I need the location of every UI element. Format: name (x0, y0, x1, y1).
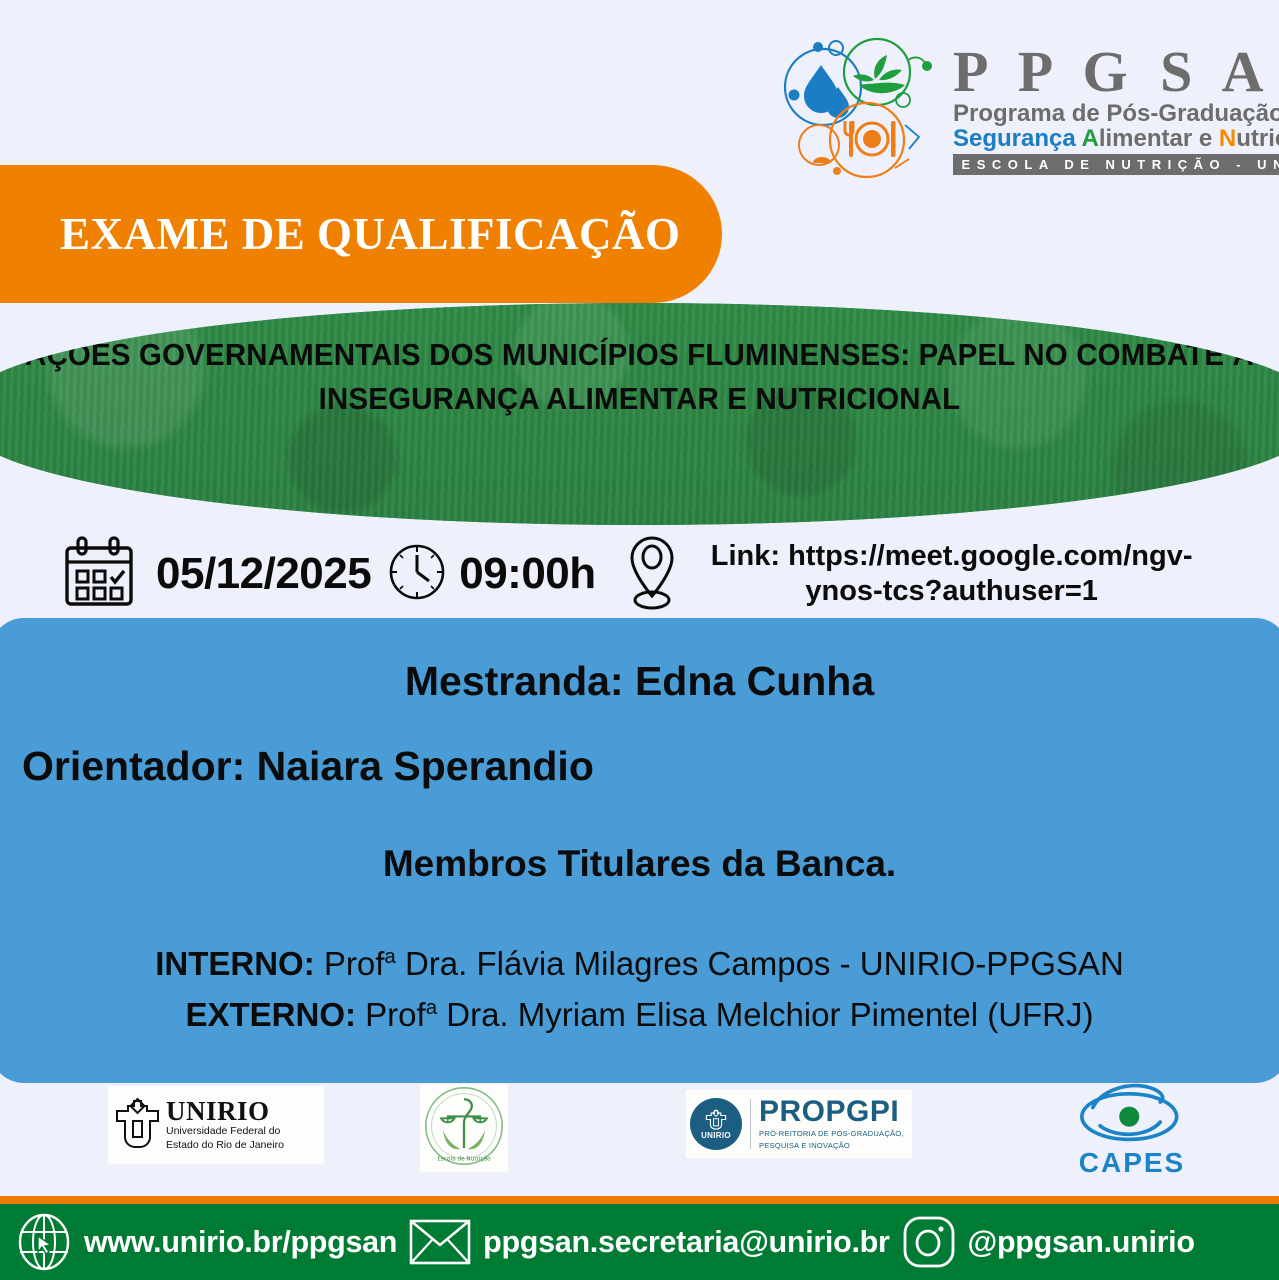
ppgsan-logo-text: P P G S A N Programa de Pós-Graduação em… (953, 40, 1279, 175)
svg-text:Escola de Nutrição: Escola de Nutrição (437, 1156, 491, 1162)
globe-cursor-icon (16, 1212, 72, 1272)
unirio-sub2: Estado do Rio de Janeiro (166, 1139, 284, 1152)
capes-swirl-icon (1070, 1082, 1194, 1149)
link-group[interactable]: Link: https://meet.google.com/ngv- ynos-… (620, 532, 1212, 617)
meeting-link-line1: Link: https://meet.google.com/ngv- (711, 540, 1193, 572)
people-block: Mestranda: Edna Cunha Orientador: Naiara… (0, 618, 1279, 1083)
thesis-title: AÇÕES GOVERNAMENTAIS DOS MUNICÍPIOS FLUM… (0, 333, 1279, 421)
ppgsan-logo: P P G S A N Programa de Pós-Graduação em… (775, 30, 1265, 185)
instagram-icon (902, 1215, 956, 1269)
unirio-circle-icon: UNIRIO (690, 1098, 742, 1150)
propgpi-name: PROPGPI (759, 1097, 904, 1127)
time-group: 09:00h (387, 542, 595, 607)
banca-externo: EXTERNO: Profa Dra. Myriam Elisa Melchio… (0, 989, 1279, 1040)
orientador-line: Orientador: Naiara Sperandio (22, 743, 594, 790)
meeting-link[interactable]: Link: https://meet.google.com/ngv- ynos-… (692, 539, 1212, 609)
banca-list: INTERNO: Profa Dra. Flávia Milagres Camp… (0, 938, 1279, 1040)
calendar-icon (62, 534, 136, 615)
event-info-row: 05/12/2025 09:00h (0, 528, 1279, 620)
unirio-logo-text: UNIRIO Universidade Federal do Estado do… (166, 1099, 284, 1152)
ppgsan-subtitle-line1: Programa de Pós-Graduação em (953, 101, 1279, 126)
map-pin-icon (620, 532, 684, 617)
capes-name: CAPES (1079, 1147, 1185, 1179)
propgpi-divider (750, 1099, 751, 1149)
ppgsan-acronym: P P G S A N (953, 44, 1279, 99)
footer-instagram[interactable]: @ppgsan.unirio (968, 1225, 1195, 1260)
propgpi-logo: UNIRIO PROPGPI PRÓ-REITORIA DE PÓS-GRADU… (686, 1090, 912, 1158)
unirio-shield-icon (114, 1097, 161, 1153)
footer-email[interactable]: ppgsan.secretaria@unirio.br (483, 1225, 889, 1260)
escola-nutricao-seal-icon: Escola de Nutrição (422, 1084, 506, 1173)
membros-heading: Membros Titulares da Banca. (0, 843, 1279, 885)
ppgsan-seg-seguranca: Segurança (953, 125, 1076, 152)
meeting-link-line2: ynos-tcs?authuser=1 (805, 575, 1098, 607)
unirio-sub1: Universidade Federal do (166, 1125, 284, 1138)
ppgsan-seg-limentar: limentar e (1099, 125, 1219, 152)
mestranda-line: Mestranda: Edna Cunha (0, 658, 1279, 705)
banca-interno-sup: a (384, 945, 395, 968)
date-group: 05/12/2025 (62, 534, 371, 615)
footer-accent-stripe (0, 1196, 1279, 1204)
banca-interno-pre: Prof (324, 945, 385, 982)
footer-website[interactable]: www.unirio.br/ppgsan (84, 1225, 397, 1260)
unirio-name: UNIRIO (166, 1099, 284, 1125)
ppgsan-seg-n: N (1219, 125, 1236, 152)
footer-bar: www.unirio.br/ppgsan ppgsan.secretaria@u… (0, 1204, 1279, 1280)
banca-interno-label: INTERNO: (155, 945, 315, 982)
unirio-logo: UNIRIO Universidade Federal do Estado do… (108, 1086, 324, 1164)
banca-interno: INTERNO: Profa Dra. Flávia Milagres Camp… (0, 938, 1279, 989)
ppgsan-seg-a: A (1082, 125, 1099, 152)
banca-externo-label: EXTERNO: (185, 996, 356, 1033)
propgpi-circle-label: UNIRIO (701, 1131, 731, 1140)
envelope-icon (409, 1218, 471, 1266)
ppgsan-school-strip: ESCOLA DE NUTRIÇÃO - UNIRIO (953, 154, 1279, 175)
exam-type-banner: EXAME DE QUALIFICAÇÃO (0, 165, 722, 303)
ppgsan-seg-utricional: utricional (1236, 125, 1279, 152)
banca-externo-sup: a (426, 996, 437, 1019)
banca-externo-post: Dra. Myriam Elisa Melchior Pimentel (UFR… (437, 996, 1093, 1033)
thesis-title-block: AÇÕES GOVERNAMENTAIS DOS MUNICÍPIOS FLUM… (0, 303, 1279, 525)
ppgsan-subtitle-line2: Segurança Alimentar e Nutricional (953, 126, 1279, 151)
event-time: 09:00h (459, 549, 595, 599)
ppgsan-logo-mark (775, 35, 945, 180)
clock-icon (387, 542, 447, 607)
banca-externo-pre: Prof (365, 996, 426, 1033)
propgpi-sub1: PRÓ-REITORIA DE PÓS-GRADUAÇÃO, (759, 1129, 904, 1139)
event-date: 05/12/2025 (156, 549, 371, 599)
escola-nutricao-logo: Escola de Nutrição (420, 1084, 508, 1172)
capes-logo: CAPES (1060, 1082, 1204, 1178)
propgpi-sub2: PESQUISA E INOVAÇÃO (759, 1141, 904, 1151)
exam-type-label: EXAME DE QUALIFICAÇÃO (0, 208, 681, 260)
partner-logos-row: UNIRIO Universidade Federal do Estado do… (0, 1086, 1279, 1188)
banca-interno-post: Dra. Flávia Milagres Campos - UNIRIO-PPG… (396, 945, 1124, 982)
propgpi-logo-text: PROPGPI PRÓ-REITORIA DE PÓS-GRADUAÇÃO, P… (759, 1097, 904, 1152)
